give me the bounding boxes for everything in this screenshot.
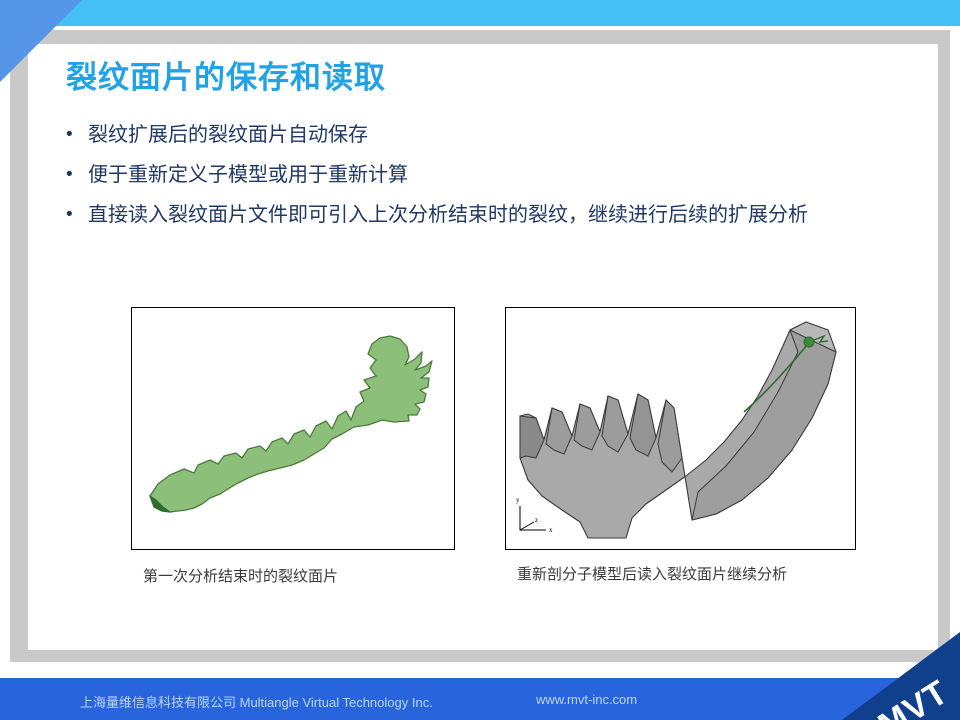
crack-surface-illustration — [132, 308, 453, 548]
bullet-text: 便于重新定义子模型或用于重新计算 — [88, 162, 896, 189]
coordinate-axes-icon — [520, 506, 546, 530]
bullet-text: 直接读入裂纹面片文件即可引入上次分析结束时的裂纹，继续进行后续的扩展分析 — [88, 202, 896, 229]
svg-text:x: x — [549, 526, 553, 534]
svg-text:z: z — [535, 516, 538, 524]
figure-caption-left: 第一次分析结束时的裂纹面片 — [143, 565, 338, 586]
crack-surface-figure — [131, 307, 455, 550]
bullet-text: 裂纹扩展后的裂纹面片自动保存 — [88, 122, 896, 149]
list-item: • 直接读入裂纹面片文件即可引入上次分析结束时的裂纹，继续进行后续的扩展分析 — [66, 202, 896, 229]
3d-model-illustration: y z x — [506, 308, 854, 548]
footer-website-url[interactable]: www.mvt-inc.com — [536, 692, 637, 707]
page-title: 裂纹面片的保存和读取 — [66, 52, 386, 97]
bullet-marker-icon: • — [66, 202, 88, 228]
svg-text:y: y — [516, 496, 520, 504]
bullet-marker-icon: • — [66, 162, 88, 188]
bullet-list: • 裂纹扩展后的裂纹面片自动保存 • 便于重新定义子模型或用于重新计算 • 直接… — [66, 122, 896, 242]
list-item: • 便于重新定义子模型或用于重新计算 — [66, 162, 896, 189]
top-accent-bar — [0, 0, 960, 26]
figure-caption-right: 重新剖分子模型后读入裂纹面片继续分析 — [517, 563, 787, 584]
presentation-slide: 裂纹面片的保存和读取 • 裂纹扩展后的裂纹面片自动保存 • 便于重新定义子模型或… — [0, 0, 960, 720]
remeshed-model-figure: y z x — [505, 307, 856, 550]
list-item: • 裂纹扩展后的裂纹面片自动保存 — [66, 122, 896, 149]
bullet-marker-icon: • — [66, 122, 88, 148]
footer-company-name: 上海量维信息科技有限公司 Multiangle Virtual Technolo… — [80, 692, 433, 711]
